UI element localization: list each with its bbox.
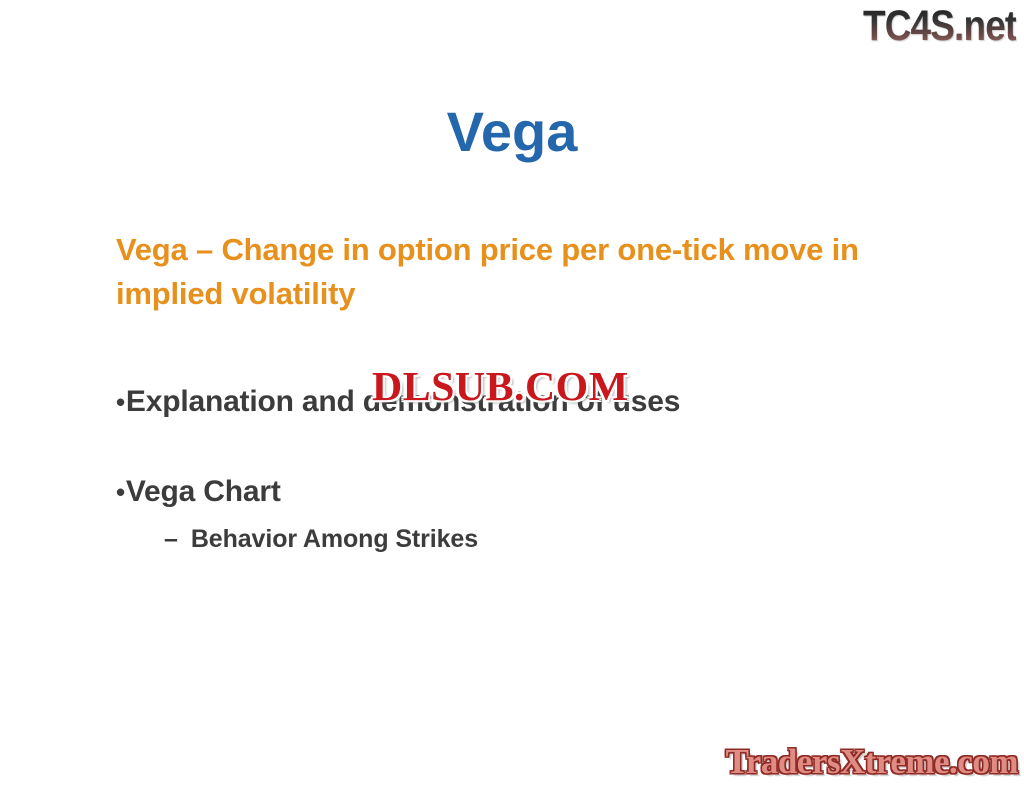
list-item: • Vega Chart — [116, 472, 966, 512]
tc4s-logo: TC4S.net — [863, 2, 1016, 50]
page-title: Vega — [0, 101, 1024, 163]
sub-list-item-label: Behavior Among Strikes — [191, 522, 478, 556]
dlsub-watermark: DLSUB.COM — [372, 366, 629, 407]
presentation-slide: TC4S.net Vega Vega – Change in option pr… — [0, 0, 1024, 791]
lead-paragraph: Vega – Change in option price per one-ti… — [116, 228, 886, 316]
tradersxtreme-logo: TradersXtreme.com — [726, 742, 1018, 782]
list-item-label: Vega Chart — [126, 472, 281, 512]
sub-list-item: – Behavior Among Strikes — [164, 522, 966, 556]
dash-marker-icon: – — [164, 522, 178, 556]
bullet-marker-icon: • — [116, 472, 125, 512]
spacer — [116, 422, 966, 472]
bullet-marker-icon: • — [116, 382, 125, 422]
spacer — [116, 512, 966, 522]
